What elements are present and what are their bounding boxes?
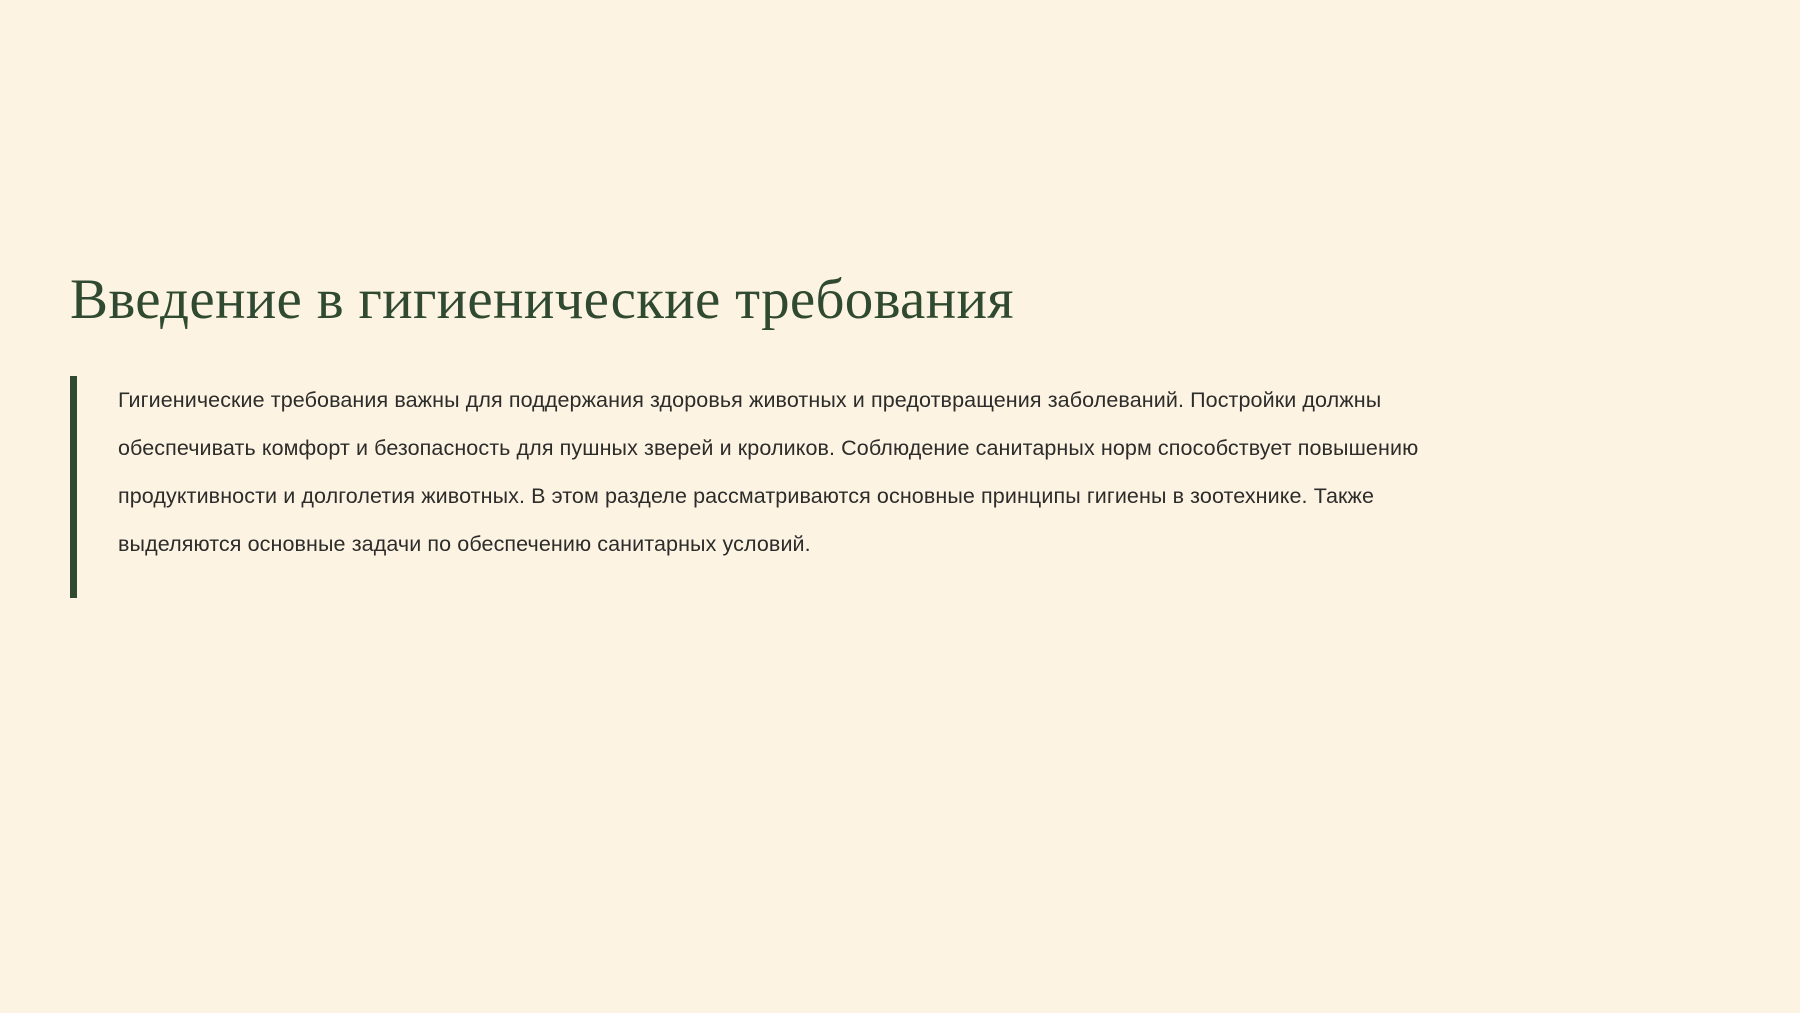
accent-bar: [70, 376, 77, 598]
body-block: Гигиенические требования важны для подде…: [70, 376, 1730, 600]
body-paragraph: Гигиенические требования важны для подде…: [118, 376, 1486, 568]
slide-content: Введение в гигиенические требования Гиги…: [70, 268, 1730, 600]
slide-canvas: Введение в гигиенические требования Гиги…: [0, 0, 1800, 1013]
page-title: Введение в гигиенические требования: [70, 268, 1730, 332]
